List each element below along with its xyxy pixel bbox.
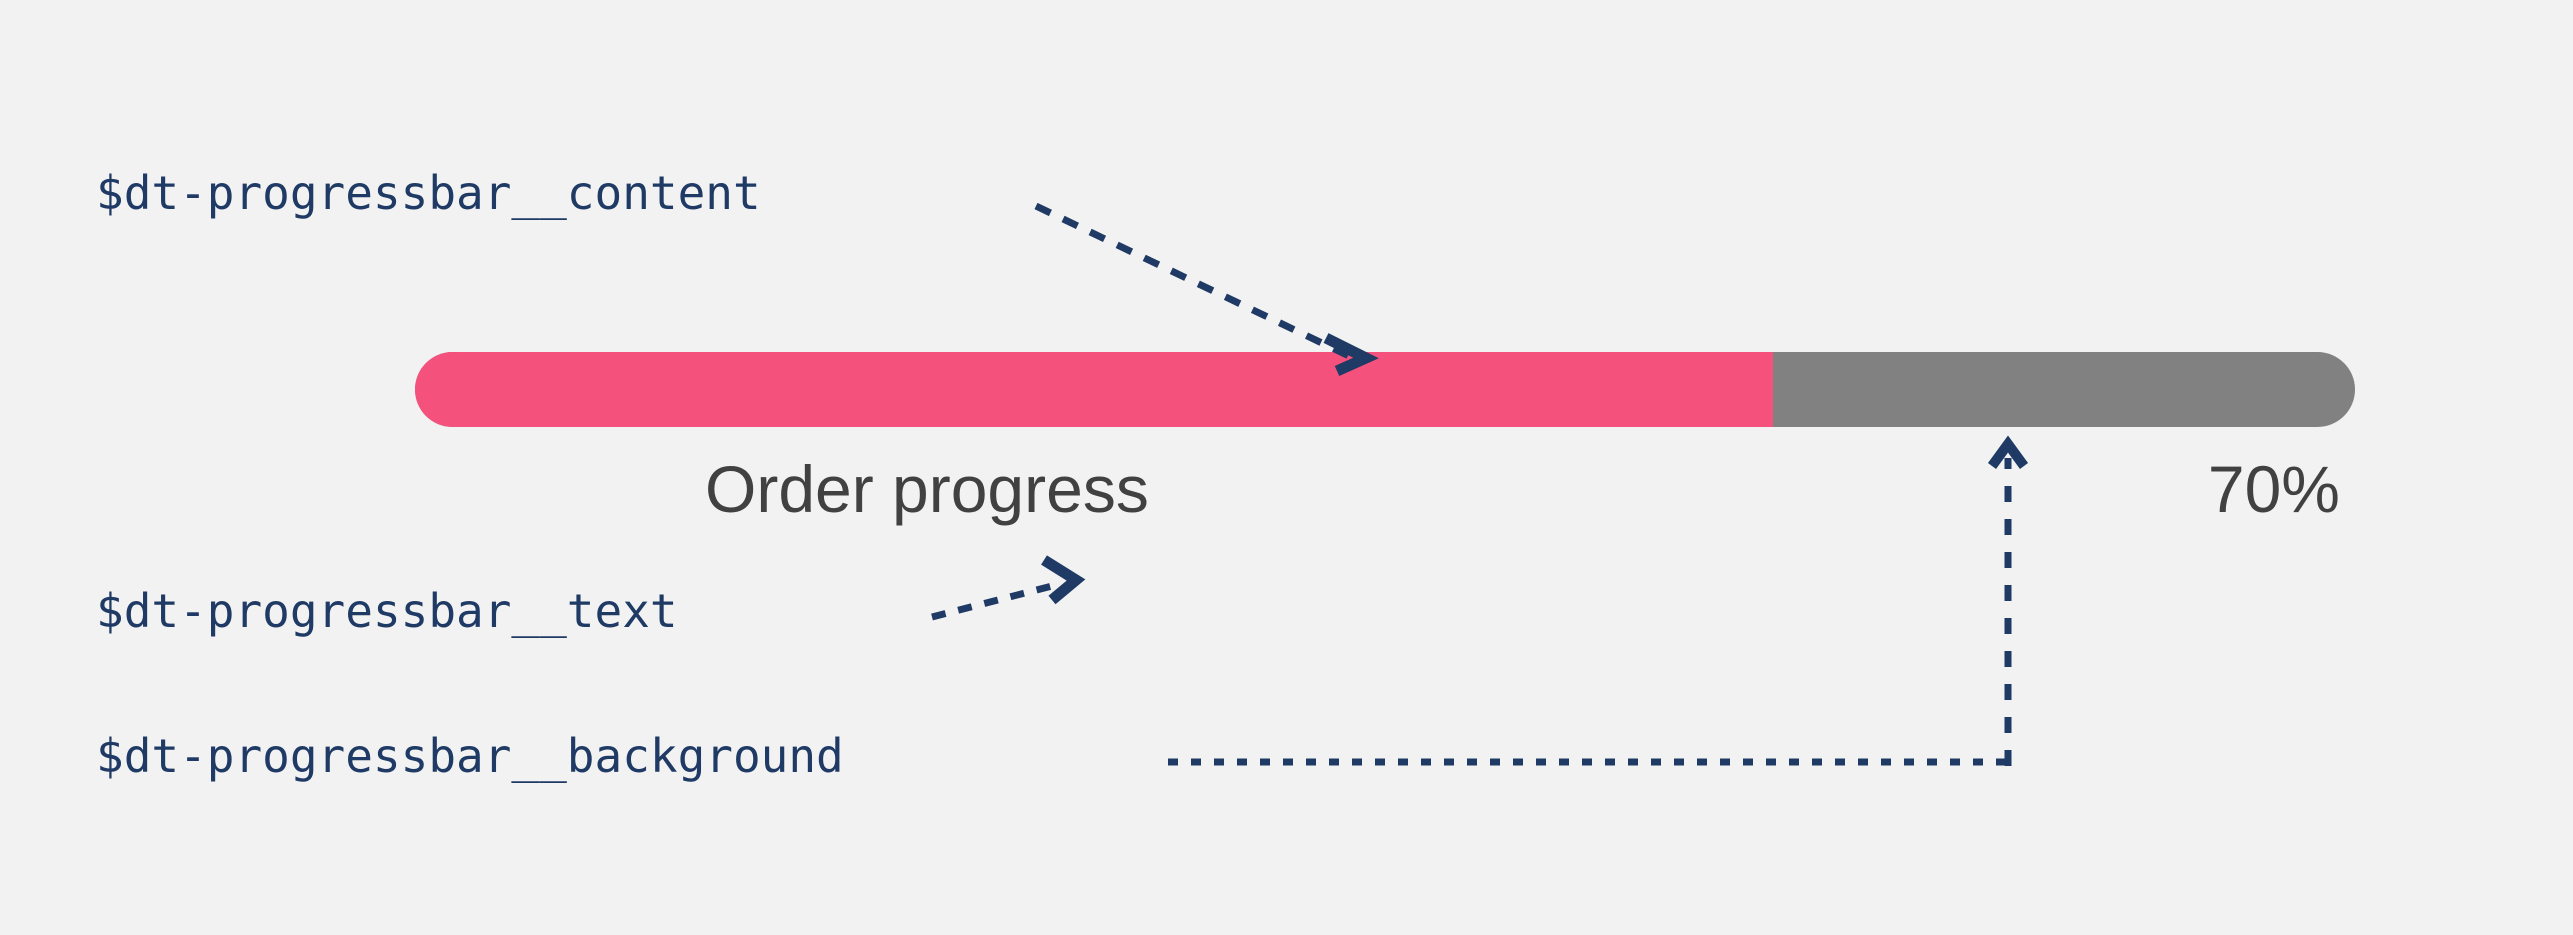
progressbar-caption-text: Order progress xyxy=(705,443,1149,535)
progressbar-fill xyxy=(415,352,1773,427)
progressbar-caption-row: Order progress 70% xyxy=(415,443,2355,535)
leader-line-text xyxy=(932,560,1076,617)
token-label-content: $dt-progressbar__content xyxy=(96,170,761,216)
leader-line-content xyxy=(1036,206,1366,371)
progressbar-anatomy-diagram: $dt-progressbar__content $dt-progressbar… xyxy=(0,0,2573,935)
token-label-background: $dt-progressbar__background xyxy=(96,733,844,779)
progressbar-percent-label: 70% xyxy=(2208,443,2340,535)
arrowhead-text-icon xyxy=(1044,560,1076,600)
token-label-text: $dt-progressbar__text xyxy=(96,588,678,634)
progressbar[interactable] xyxy=(415,352,2355,427)
